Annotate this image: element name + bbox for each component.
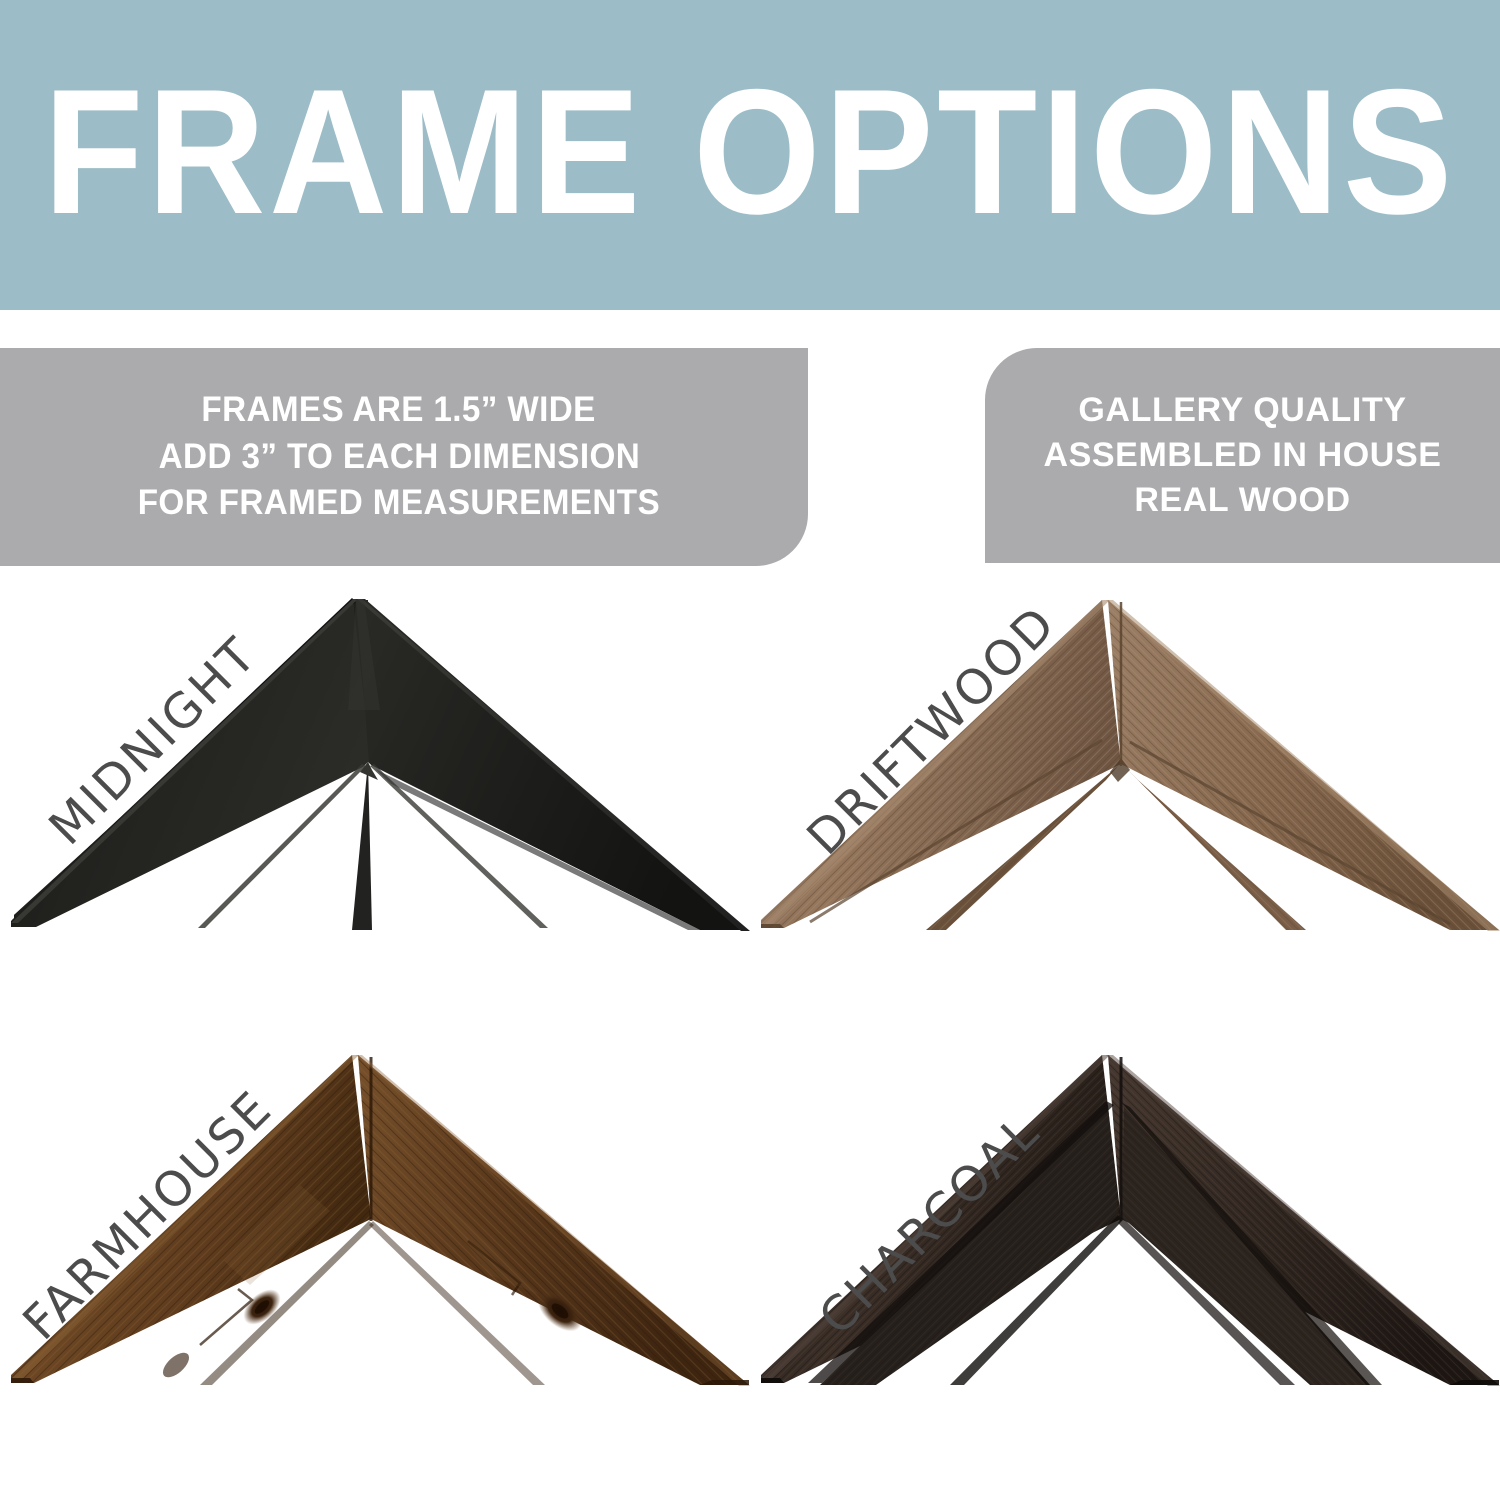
page-title: FRAME OPTIONS [44,63,1457,247]
frame-option-midnight[interactable]: MIDNIGHT [0,590,750,1045]
banner-right-line-3: REAL WOOD [1134,478,1350,523]
frame-option-farmhouse[interactable]: FARMHOUSE [0,1045,750,1500]
banner-left-line-2: ADD 3” TO EACH DIMENSION [158,434,639,481]
info-banner-quality: GALLERY QUALITY ASSEMBLED IN HOUSE REAL … [985,348,1500,563]
frame-corner-charcoal-image [750,1045,1500,1445]
banner-right-line-2: ASSEMBLED IN HOUSE [1043,433,1441,478]
frame-option-driftwood[interactable]: DRIFTWOOD [750,590,1500,1045]
info-banner-measurements: FRAMES ARE 1.5” WIDE ADD 3” TO EACH DIME… [0,348,808,566]
frame-option-charcoal[interactable]: CHARCOAL [750,1045,1500,1500]
banner-left-line-1: FRAMES ARE 1.5” WIDE [202,387,596,434]
banner-left-line-3: FOR FRAMED MEASUREMENTS [138,480,660,527]
frame-options-grid: MIDNIGHT [0,590,1500,1500]
banner-right-line-1: GALLERY QUALITY [1078,388,1406,433]
header-band: FRAME OPTIONS [0,0,1500,310]
